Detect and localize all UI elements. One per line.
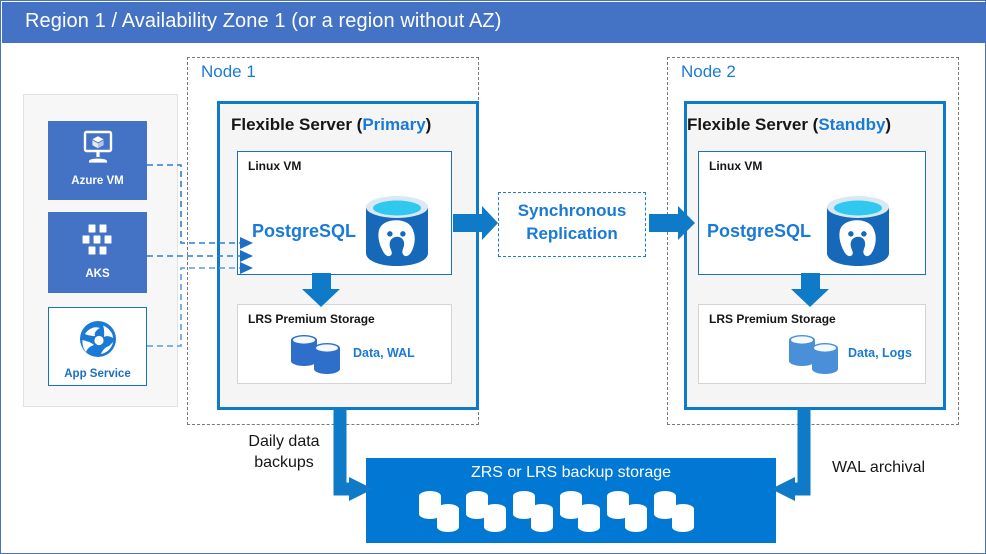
flexible-server-primary-title: Flexible Server (Primary) <box>231 115 431 135</box>
linux-vm-label-node-2: Linux VM <box>709 159 762 173</box>
service-tile-aks[interactable]: AKS <box>48 212 147 293</box>
service-tile-label: AKS <box>48 268 147 281</box>
postgresql-database-icon <box>823 191 893 274</box>
postgresql-label-node-2: PostgreSQL <box>707 221 811 242</box>
backup-disk-group <box>418 490 724 545</box>
service-tile-azure-vm[interactable]: Azure VM <box>48 121 147 200</box>
postgresql-label-node-1: PostgreSQL <box>252 221 356 242</box>
backup-storage-title: ZRS or LRS backup storage <box>366 464 776 482</box>
standby-role-accent: Standby <box>818 115 885 134</box>
app-service-globe-icon <box>49 317 146 366</box>
region-title: Region 1 / Availability Zone 1 (or a reg… <box>25 10 502 33</box>
disk-stack-icon <box>289 334 345 381</box>
storage-caption-node-2: Data, Logs <box>848 346 912 360</box>
flexible-server-standby-title: Flexible Server (Standby) <box>687 115 891 135</box>
postgresql-database-icon <box>362 191 432 274</box>
lrs-premium-storage-label-node-2: LRS Premium Storage <box>709 312 836 326</box>
disk-stack-icon <box>787 334 843 381</box>
architecture-diagram: Region 1 / Availability Zone 1 (or a reg… <box>0 0 986 554</box>
replication-line-1: Synchronous <box>498 199 646 222</box>
service-tile-app-service[interactable]: App Service <box>48 307 147 386</box>
lrs-premium-storage-label-node-1: LRS Premium Storage <box>248 312 375 326</box>
linux-vm-label-node-1: Linux VM <box>248 159 301 173</box>
primary-role-accent: Primary <box>362 115 425 134</box>
replication-line-2: Replication <box>498 222 646 245</box>
node-1-label: Node 1 <box>201 62 256 82</box>
kubernetes-cluster-icon <box>48 221 147 266</box>
node-2-label: Node 2 <box>681 62 736 82</box>
storage-caption-node-1: Data, WAL <box>353 346 415 360</box>
virtual-machine-icon <box>48 130 147 173</box>
service-tile-label: Azure VM <box>48 175 147 188</box>
wal-archival-label: WAL archival <box>832 457 925 478</box>
daily-backups-label: Daily data backups <box>229 431 339 473</box>
synchronous-replication-label: Synchronous Replication <box>498 199 646 245</box>
service-tile-label: App Service <box>49 368 146 381</box>
